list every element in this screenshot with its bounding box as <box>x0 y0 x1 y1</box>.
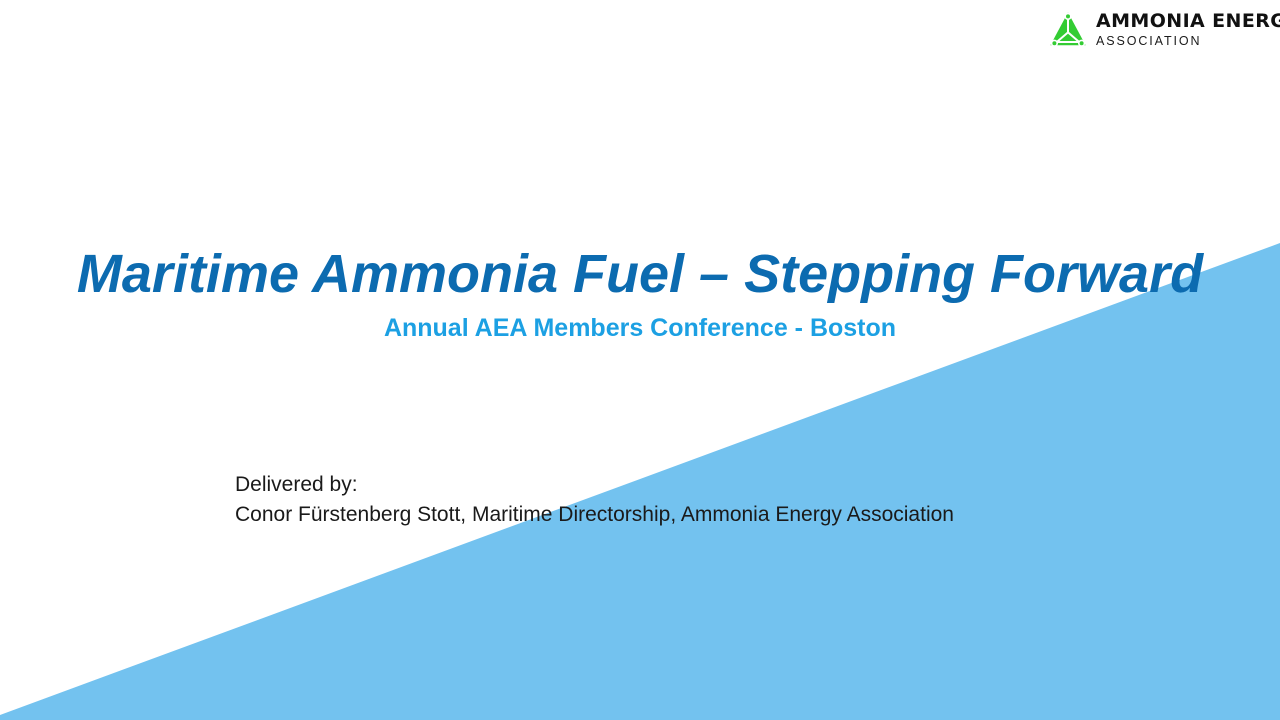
presenter-block: Delivered by: Conor Fürstenberg Stott, M… <box>235 470 954 530</box>
presenter-name: Conor Fürstenberg Stott, Maritime Direct… <box>235 500 954 530</box>
logo-wordmark: AMMONIA ENERGY ASSOCIATION <box>1096 12 1280 48</box>
logo-wordmark-line1: AMMONIA ENERGY <box>1096 12 1280 31</box>
presenter-label: Delivered by: <box>235 470 954 500</box>
title-block: Maritime Ammonia Fuel – Stepping Forward… <box>0 246 1280 342</box>
presentation-slide: AMMONIA ENERGY ASSOCIATION Maritime Ammo… <box>0 0 1280 720</box>
diagonal-accent-band <box>0 0 1280 720</box>
logo-wordmark-line2: ASSOCIATION <box>1096 35 1280 48</box>
slide-title: Maritime Ammonia Fuel – Stepping Forward <box>0 246 1280 303</box>
ammonia-energy-association-triangle-icon <box>1048 10 1088 50</box>
logo: AMMONIA ENERGY ASSOCIATION <box>1048 10 1280 50</box>
slide-subtitle: Annual AEA Members Conference - Boston <box>0 315 1280 343</box>
